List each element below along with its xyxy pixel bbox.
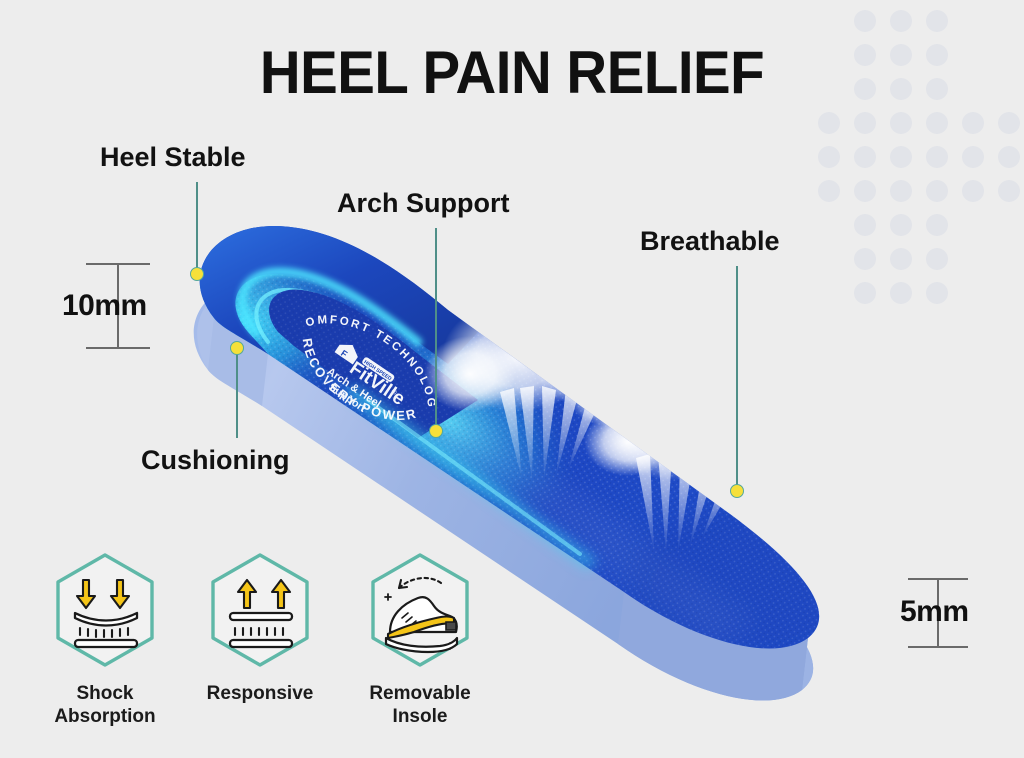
feature-label-line-1: Responsive xyxy=(185,682,335,705)
callout-label-cushioning: Cushioning xyxy=(141,445,289,475)
callout-label-heel-stable: Heel Stable xyxy=(100,142,246,172)
callout-label-breathable: Breathable xyxy=(640,226,780,256)
dimension-value-heel: 10mm xyxy=(62,289,147,323)
feature-label-shock-absorption: Shock Absorption xyxy=(30,682,180,728)
product-stamp: COMFORT TECHNOLOGY F HIGH SPEED FitVille… xyxy=(276,290,456,449)
page-title: HEEL PAIN RELIEF xyxy=(31,42,994,104)
infographic-canvas: HEEL PAIN RELIEF xyxy=(0,0,1024,758)
callout-dot-arch-support[interactable] xyxy=(429,424,443,438)
leader-line-cushioning xyxy=(236,352,238,438)
dimension-value-forefoot: 5mm xyxy=(900,595,969,629)
removable-insole-icon xyxy=(366,552,474,668)
leader-line-breathable xyxy=(736,266,738,488)
feature-label-line-2: Absorption xyxy=(30,705,180,728)
dimension-marker-heel: 10mm xyxy=(86,263,150,349)
feature-label-line-1: Shock xyxy=(30,682,180,705)
shock-absorption-icon xyxy=(51,552,159,668)
stamp-sub-line-1: Arch & Heel xyxy=(325,366,383,411)
svg-text:COMFORT TECHNOLOGY: COMFORT TECHNOLOGY xyxy=(300,290,457,415)
stamp-sub-line-2: Support xyxy=(326,381,368,415)
callout-label-arch-support: Arch Support xyxy=(337,188,510,218)
feature-label-removable-insole: Removable Insole xyxy=(345,682,495,728)
feature-shock-absorption[interactable]: Shock Absorption xyxy=(30,552,180,728)
stamp-brand-tag: HIGH SPEED xyxy=(363,359,393,382)
svg-text:®: ® xyxy=(390,387,399,397)
feature-label-line-2: Insole xyxy=(345,705,495,728)
feature-label-line-1: Removable xyxy=(345,682,495,705)
callout-dot-cushioning[interactable] xyxy=(230,341,244,355)
svg-text:RECOVERY POWER: RECOVERY POWER xyxy=(283,331,425,445)
breathable-vapor xyxy=(424,292,806,554)
callout-dot-heel-stable[interactable] xyxy=(190,267,204,281)
stamp-brand: FitVille xyxy=(346,358,409,410)
leader-line-heel-stable xyxy=(196,182,198,272)
feature-responsive[interactable]: Responsive xyxy=(185,552,335,705)
stamp-bottom-arc: RECOVERY POWER xyxy=(283,331,425,445)
svg-text:F: F xyxy=(339,348,350,360)
dimension-marker-forefoot: 5mm xyxy=(908,578,968,648)
responsive-icon xyxy=(206,552,314,668)
feature-label-responsive: Responsive xyxy=(185,682,335,705)
feature-removable-insole[interactable]: Removable Insole xyxy=(345,552,495,728)
callout-dot-breathable[interactable] xyxy=(730,484,744,498)
leader-line-arch-support xyxy=(435,228,437,428)
stamp-top-arc: COMFORT TECHNOLOGY xyxy=(300,290,457,415)
